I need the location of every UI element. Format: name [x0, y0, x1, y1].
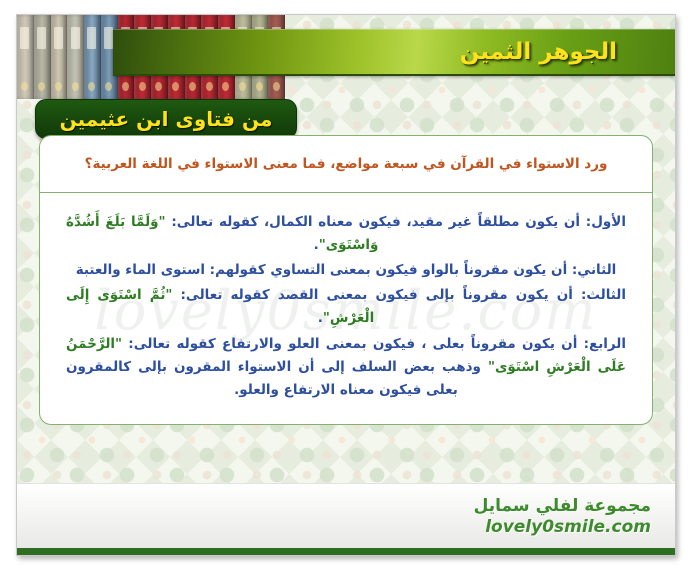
- book-spine: [17, 15, 34, 99]
- quran-quote: "وَلَمَّا بَلَغَ أَشُدَّهُ وَاسْتَوَى": [66, 214, 378, 253]
- page-root: الجوهر الثمين من فتاوى ابن عثيمين ورد ال…: [0, 0, 692, 572]
- image-frame: الجوهر الثمين من فتاوى ابن عثيمين ورد ال…: [16, 14, 676, 556]
- quran-quote: "ثُمَّ اسْتَوَى إِلَى الْعَرْشِ": [66, 287, 374, 326]
- footer-arabic-label: مجموعة لفلي سمايل: [17, 496, 651, 517]
- page-title: الجوهر الثمين: [460, 39, 675, 65]
- subtitle-text: من فتاوى ابن عثيمين: [60, 107, 273, 131]
- title-banner: الجوهر الثمين: [113, 29, 675, 76]
- footer: مجموعة لفلي سمايل lovely0smile.com: [17, 483, 675, 555]
- answer-paragraph-3: الثالث: أن يكون مقروناً بإلى فيكون بمعنى…: [66, 284, 626, 330]
- quran-quote: "الرَّحْمَنُ عَلَى الْعَرْشِ اسْتَوَى": [66, 336, 626, 375]
- answer-paragraph-2: الثاني: أن يكون مقروناً بالواو فيكون بمع…: [66, 259, 626, 282]
- question-card: ورد الاستواء في القرآن في سبعة مواضع، فم…: [39, 135, 653, 192]
- book-spine: [84, 15, 101, 99]
- header: الجوهر الثمين من فتاوى ابن عثيمين: [17, 15, 675, 129]
- book-spine: [51, 15, 68, 99]
- content-area: ورد الاستواء في القرآن في سبعة مواضع، فم…: [17, 129, 675, 483]
- book-spine: [67, 15, 84, 99]
- footer-credits: مجموعة لفلي سمايل lovely0smile.com: [17, 496, 675, 539]
- footer-green-bar: [17, 548, 675, 555]
- book-spine: [34, 15, 51, 99]
- footer-website-link[interactable]: lovely0smile.com: [17, 517, 651, 538]
- answer-card: lovely0smile.com الأول: أن يكون مطلقاً غ…: [39, 192, 653, 426]
- answer-body: الأول: أن يكون مطلقاً غير مقيد، فيكون مع…: [66, 211, 626, 403]
- answer-paragraph-4: الرابع: أن يكون مقروناً بعلى ، فيكون بمع…: [66, 333, 626, 403]
- question-text: ورد الاستواء في القرآن في سبعة مواضع، فم…: [62, 154, 630, 176]
- answer-paragraph-1: الأول: أن يكون مطلقاً غير مقيد، فيكون مع…: [66, 211, 626, 257]
